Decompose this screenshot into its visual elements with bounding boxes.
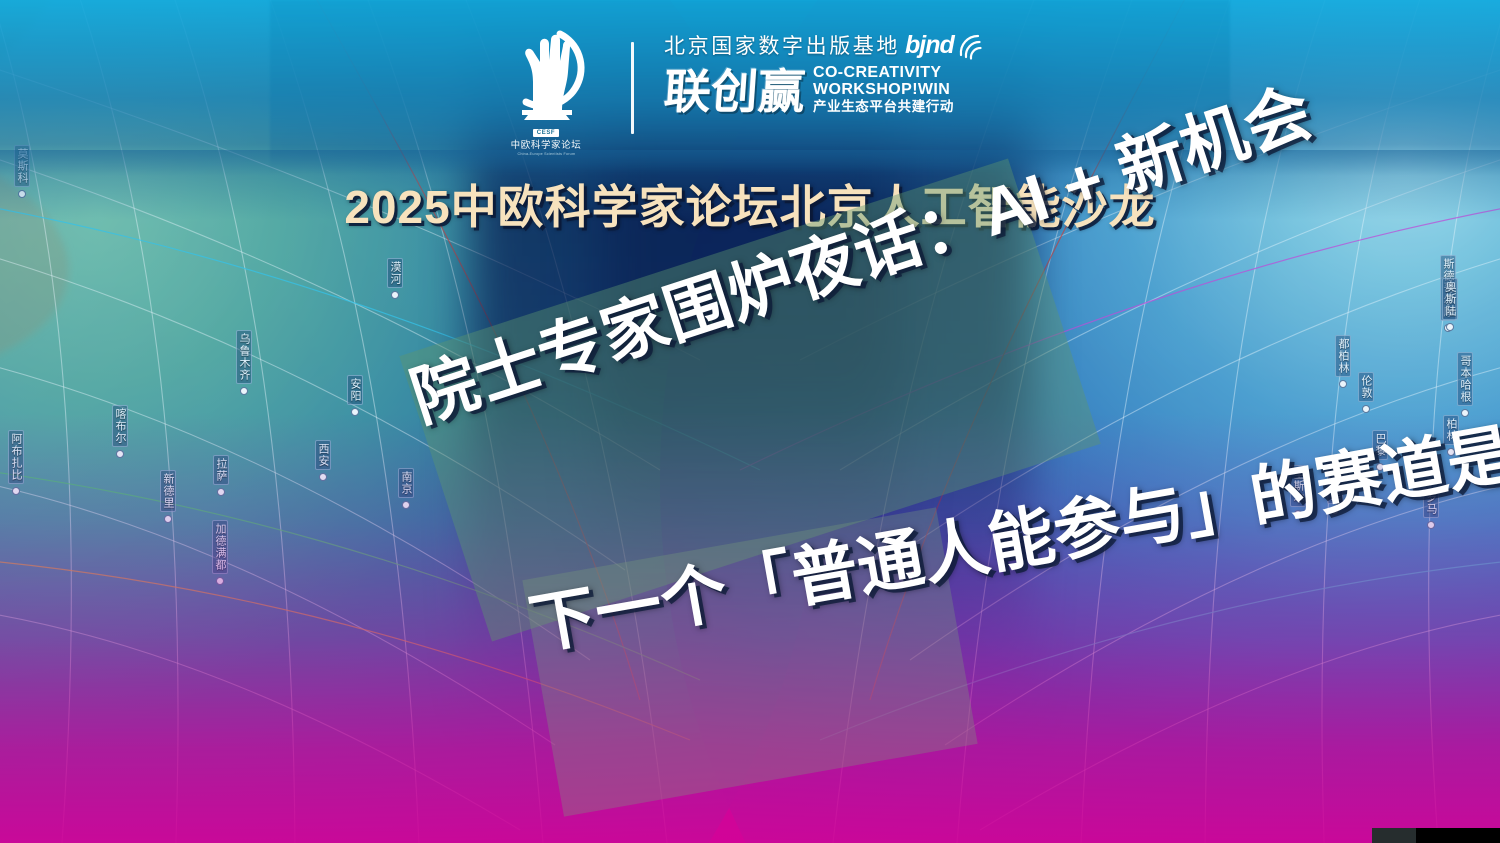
cesf-name-en: China-Europe Scientists Forum bbox=[513, 151, 578, 156]
brand-name-cn: 联创赢 bbox=[662, 66, 807, 118]
hand-in-circle-icon bbox=[500, 24, 592, 120]
brand-en-line2: WORKSHOP!WIN bbox=[813, 81, 954, 98]
cesf-badge: CESF bbox=[533, 129, 559, 137]
video-player-bar[interactable] bbox=[1372, 828, 1500, 843]
player-bar-segment-black bbox=[1416, 828, 1500, 843]
logo-divider bbox=[631, 42, 634, 134]
bjnd-wordmark: bjnd bbox=[905, 33, 954, 58]
cesf-logo: CESF 中欧科学家论坛 China-Europe Scientists For… bbox=[491, 24, 601, 152]
brand-en-line1: CO-CREATIVITY bbox=[813, 64, 954, 81]
bjnd-line-cn: 北京国家数字出版基地 bbox=[664, 30, 900, 60]
brand-tagline-cn: 产业生态平台共建行动 bbox=[813, 99, 954, 115]
cesf-name-cn: 中欧科学家论坛 bbox=[511, 140, 582, 151]
title-block: 2025中欧科学家论坛北京人工智能沙龙 院士专家围炉夜话：AI + 新机会 下一… bbox=[0, 176, 1500, 782]
bjnd-logo: 北京国家数字出版基地 bjnd 联创赢 bbox=[664, 28, 1009, 148]
signal-arc-icon bbox=[955, 29, 989, 61]
poster-canvas: 莫斯科阿布扎比乌鲁木齐喀布尔拉萨新德里西安安阳漠河南京加德满都斯德哥尔摩奥斯陆哥… bbox=[0, 0, 1500, 843]
player-bar-segment-grey bbox=[1372, 828, 1416, 843]
